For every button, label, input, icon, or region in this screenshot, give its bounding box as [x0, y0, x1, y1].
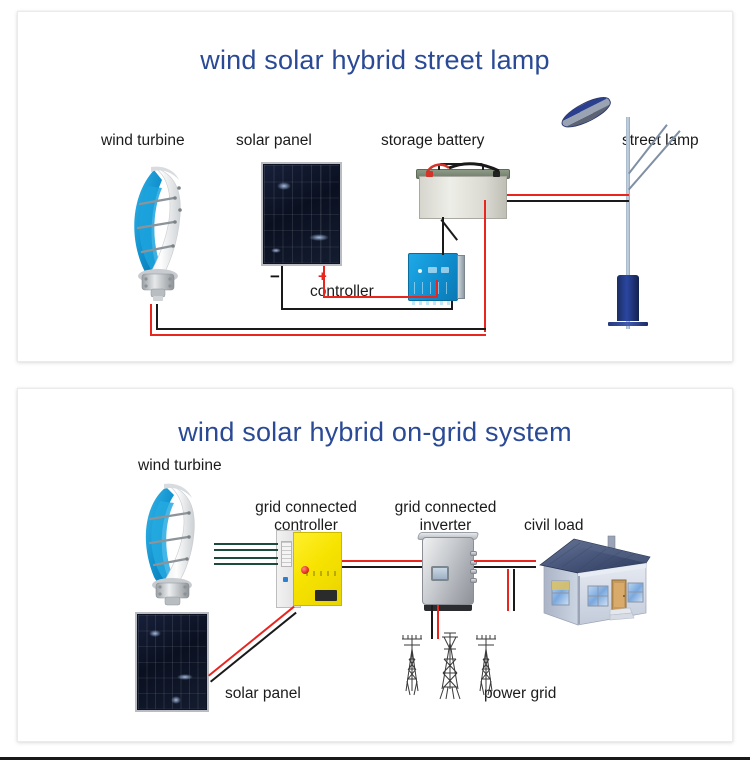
- inverter-display: [431, 566, 449, 581]
- solar-panel-cells: [138, 615, 206, 709]
- grid-connected-controller: [276, 530, 342, 608]
- wire-inverter-to-grid-positive: [437, 605, 439, 639]
- wire-house-to-grid-positive: [507, 569, 509, 611]
- controller-blue-indicator: [283, 577, 288, 582]
- wire-solar-negative-into-controller: [451, 301, 453, 310]
- controller-vent-slot: [281, 541, 292, 568]
- controller-badge: [315, 590, 337, 601]
- solar-panel-negative-terminal-label: −: [270, 267, 280, 287]
- wire-turbine-ac-phase-1: [214, 543, 278, 545]
- wind-turbine-vertical-axis: [118, 158, 198, 306]
- controller-display: [428, 267, 437, 273]
- on-grid-diagram: wind solar hybrid on-grid system wind tu…: [18, 389, 732, 741]
- wire-solar-negative-to-controller: [210, 612, 297, 683]
- storage-battery: [419, 163, 507, 219]
- controller-vents: [414, 282, 452, 294]
- controller-side-panel: [457, 255, 465, 299]
- wind-turbine-vertical-axis: [136, 481, 220, 611]
- wire-house-to-grid-negative: [513, 569, 515, 611]
- controller-terminals: [412, 301, 454, 305]
- label-wind-turbine: wind turbine: [101, 132, 185, 150]
- wire-solar-positive-to-controller: [208, 606, 295, 677]
- wire-turbine-positive-across: [150, 334, 486, 336]
- on-grid-system-card: wind solar hybrid on-grid system wind tu…: [17, 388, 733, 742]
- solar-panel-glare-3: [171, 696, 181, 704]
- solar-panel-module: [135, 612, 209, 712]
- page-bottom-rule: [0, 757, 750, 760]
- lamp-head: [558, 92, 615, 133]
- wire-controller-to-inverter-positive: [342, 560, 422, 562]
- pylons-svg: [398, 629, 503, 701]
- street-lamp-system-card: wind solar hybrid street lamp wind turbi…: [17, 11, 733, 362]
- label-wind-turbine: wind turbine: [138, 457, 222, 475]
- wind-turbine-svg: [136, 481, 220, 611]
- solar-panel-glare-2: [177, 674, 193, 680]
- house-svg: [534, 531, 656, 631]
- solar-panel-glare: [149, 630, 161, 637]
- wire-solar-positive-right: [323, 296, 438, 298]
- civil-load-house: [534, 531, 656, 631]
- inverter-connector-4: [470, 578, 477, 583]
- page-title-on-grid: wind solar hybrid on-grid system: [18, 417, 732, 448]
- power-grid-pylons: [398, 629, 503, 701]
- controller-display-2: [441, 267, 449, 273]
- grid-connected-inverter: [422, 537, 474, 605]
- wire-battery-to-lamp-negative: [507, 200, 629, 202]
- lamp-foot: [608, 322, 648, 326]
- inverter-connector-1: [470, 551, 477, 556]
- label-solar-panel: solar panel: [236, 132, 312, 150]
- wire-solar-positive-down: [323, 266, 325, 298]
- label-controller: controller: [308, 283, 376, 301]
- lamp-base: [617, 275, 639, 321]
- battery-cable-bridge: [421, 161, 507, 177]
- wire-turbine-negative-across: [156, 328, 486, 330]
- solar-panel-glare-2: [309, 234, 329, 241]
- battery-body: [419, 176, 507, 219]
- controller-led-1: [418, 269, 422, 273]
- wire-turbine-positive-down: [150, 304, 152, 336]
- label-storage-battery: storage battery: [381, 132, 484, 150]
- label-grid-connected-controller-line1: grid connected: [231, 499, 381, 517]
- diagram-page: wind solar hybrid street lamp wind turbi…: [0, 0, 750, 765]
- wire-turbine-ac-phase-4: [214, 563, 278, 565]
- label-solar-panel: solar panel: [225, 685, 301, 703]
- wire-turbine-negative-down: [156, 304, 158, 330]
- wire-solar-negative-down: [281, 266, 283, 310]
- solar-panel-module: [261, 162, 342, 266]
- solar-panel-glare-3: [271, 248, 281, 253]
- wire-inverter-to-grid-negative: [431, 605, 433, 639]
- wire-controller-to-inverter-negative: [342, 566, 422, 568]
- wire-battery-to-lamp-positive: [507, 194, 629, 196]
- wire-solar-positive-into-controller: [436, 280, 438, 298]
- inverter-connector-3: [470, 569, 477, 574]
- label-grid-connected-inverter-line1: grid connected: [373, 499, 518, 517]
- charge-controller: [408, 253, 458, 301]
- wire-turbine-ac-phase-2: [214, 549, 278, 551]
- wire-battery-positive-bus: [484, 200, 486, 332]
- wire-solar-negative-right: [281, 308, 453, 310]
- wire-inverter-to-house-negative: [474, 566, 536, 568]
- controller-branding-text: [306, 571, 336, 576]
- wire-turbine-ac-phase-3: [214, 557, 278, 559]
- street-lamp-diagram: wind solar hybrid street lamp wind turbi…: [18, 12, 732, 361]
- wind-turbine-svg: [118, 158, 198, 306]
- wire-inverter-to-house-positive: [474, 560, 536, 562]
- solar-panel-glare: [277, 182, 291, 190]
- street-lamp: [626, 117, 630, 329]
- page-title-street-lamp: wind solar hybrid street lamp: [18, 45, 732, 76]
